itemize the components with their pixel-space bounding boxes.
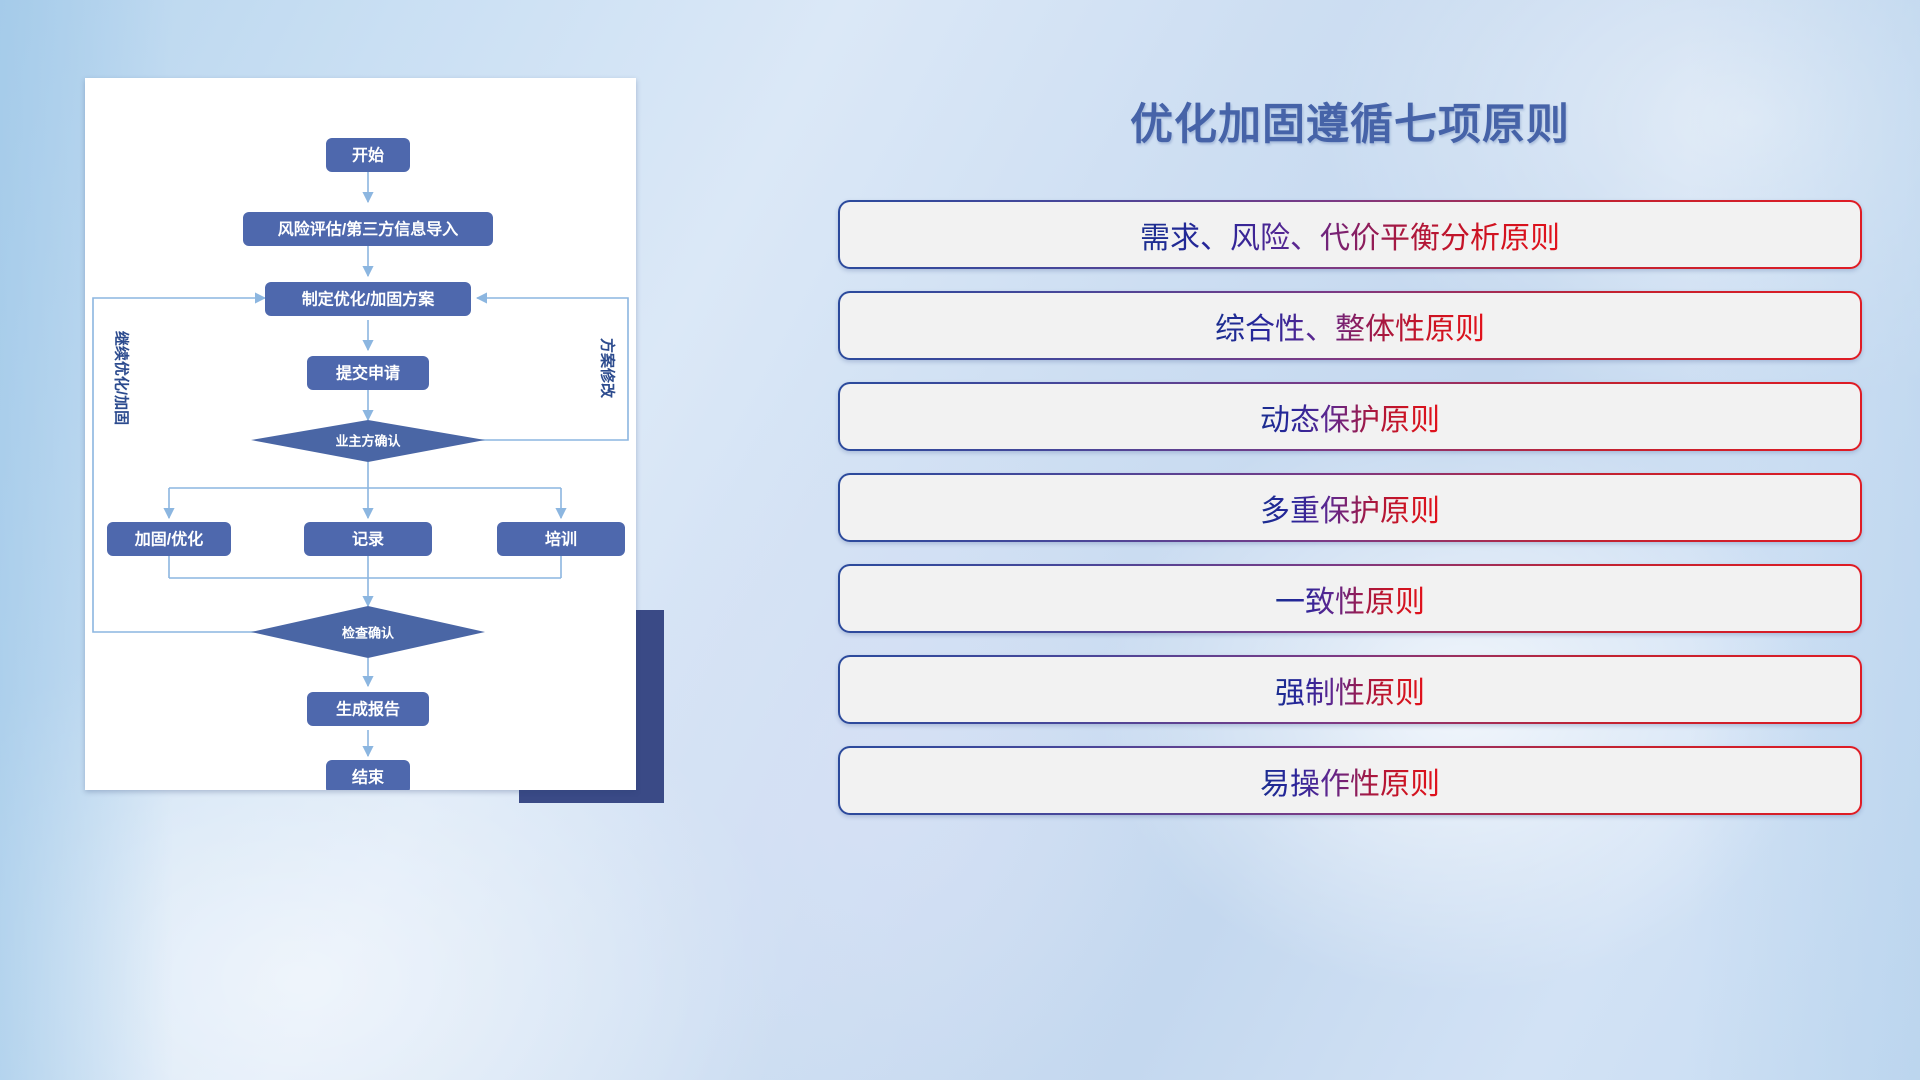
flow-node-reinforce-label: 加固/优化	[134, 530, 203, 549]
principle-item[interactable]: 一致性原则	[838, 564, 1862, 633]
flow-node-end[interactable]: 结束	[326, 760, 410, 790]
principle-item[interactable]: 动态保护原则	[838, 382, 1862, 451]
flow-node-submit[interactable]: 提交申请	[307, 356, 429, 390]
principle-item-inner: 一致性原则	[840, 566, 1860, 631]
principle-item-inner: 易操作性原则	[840, 748, 1860, 813]
flowchart-card: 开始 风险评估/第三方信息导入 制定优化/加固方案 提交申请 业主方确认 加固/…	[85, 78, 636, 790]
flow-node-check-confirm-label: 检查确认	[342, 626, 395, 641]
principle-item[interactable]: 多重保护原则	[838, 473, 1862, 542]
flow-node-owner-confirm-label: 业主方确认	[335, 434, 401, 449]
principle-item[interactable]: 综合性、整体性原则	[838, 291, 1862, 360]
principle-item-inner: 多重保护原则	[840, 475, 1860, 540]
principle-label: 综合性、整体性原则	[1215, 304, 1485, 348]
flow-node-plan[interactable]: 制定优化/加固方案	[265, 282, 471, 316]
flow-connectors	[93, 172, 628, 756]
principle-item-inner: 动态保护原则	[840, 384, 1860, 449]
principle-item[interactable]: 易操作性原则	[838, 746, 1862, 815]
principle-label: 易操作性原则	[1260, 759, 1440, 803]
flow-edge-label-right-loop: 方案修改	[599, 338, 617, 399]
flow-node-owner-confirm[interactable]: 业主方确认	[251, 420, 485, 462]
flow-node-report[interactable]: 生成报告	[307, 692, 429, 726]
flow-node-report-label: 生成报告	[336, 700, 400, 719]
flow-node-training[interactable]: 培训	[497, 522, 625, 556]
principle-label: 多重保护原则	[1260, 486, 1440, 530]
flow-node-start-label: 开始	[352, 146, 384, 165]
principle-label: 需求、风险、代价平衡分析原则	[1140, 213, 1560, 257]
principles-panel: 优化加固遵循七项原则 需求、风险、代价平衡分析原则 综合性、整体性原则 动态保护…	[830, 82, 1870, 1022]
principle-label: 强制性原则	[1275, 668, 1425, 712]
flow-node-check-confirm[interactable]: 检查确认	[251, 606, 485, 658]
flow-node-record[interactable]: 记录	[304, 522, 432, 556]
principle-item[interactable]: 强制性原则	[838, 655, 1862, 724]
flowchart-diagram: 开始 风险评估/第三方信息导入 制定优化/加固方案 提交申请 业主方确认 加固/…	[85, 78, 636, 790]
flow-node-risk-assessment[interactable]: 风险评估/第三方信息导入	[243, 212, 493, 246]
flow-node-risk-assessment-label: 风险评估/第三方信息导入	[278, 220, 458, 239]
flow-node-start[interactable]: 开始	[326, 138, 410, 172]
flow-node-plan-label: 制定优化/加固方案	[302, 290, 435, 309]
principle-item-inner: 强制性原则	[840, 657, 1860, 722]
principle-item[interactable]: 需求、风险、代价平衡分析原则	[838, 200, 1862, 269]
flow-node-training-label: 培训	[545, 530, 577, 549]
flow-node-reinforce[interactable]: 加固/优化	[107, 522, 231, 556]
principles-list: 需求、风险、代价平衡分析原则 综合性、整体性原则 动态保护原则 多重保护原则 一…	[830, 200, 1870, 815]
page-title: 优化加固遵循七项原则	[830, 90, 1870, 152]
flow-node-record-label: 记录	[352, 531, 384, 549]
principle-label: 动态保护原则	[1260, 395, 1440, 439]
principle-item-inner: 综合性、整体性原则	[840, 293, 1860, 358]
principle-label: 一致性原则	[1275, 577, 1425, 621]
flow-node-submit-label: 提交申请	[336, 364, 400, 383]
flow-node-end-label: 结束	[351, 768, 385, 787]
principle-item-inner: 需求、风险、代价平衡分析原则	[840, 202, 1860, 267]
flow-edge-label-left-loop: 继续优化/加固	[113, 331, 131, 425]
